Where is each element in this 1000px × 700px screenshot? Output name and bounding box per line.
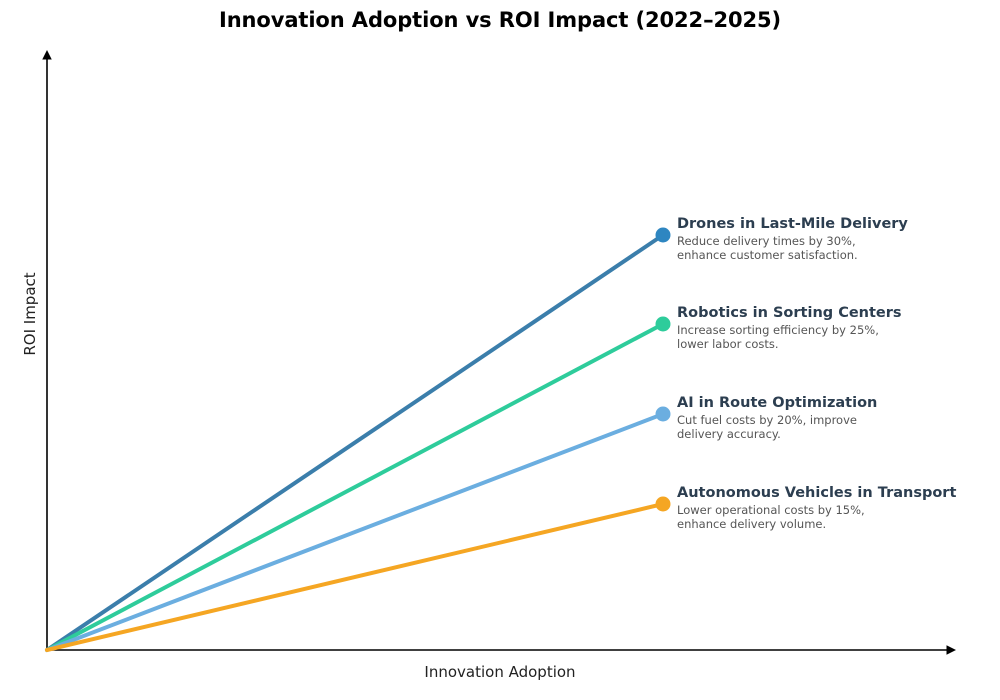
series-marker-ai-route[interactable]	[656, 407, 671, 422]
annotation-heading: Drones in Last-Mile Delivery	[677, 216, 1000, 233]
annotation-heading: AI in Route Optimization	[677, 395, 1000, 412]
annotation-description-line: Increase sorting efficiency by 25%,	[677, 324, 1000, 338]
annotation-description-line: Cut fuel costs by 20%, improve	[677, 414, 1000, 428]
annotation-robotics: Robotics in Sorting Centers Increase sor…	[677, 305, 1000, 351]
series-marker-robotics[interactable]	[656, 317, 671, 332]
annotation-heading: Robotics in Sorting Centers	[677, 305, 1000, 322]
annotation-description: Lower operational costs by 15%, enhance …	[677, 504, 1000, 531]
annotation-description: Reduce delivery times by 30%, enhance cu…	[677, 235, 1000, 262]
annotation-description: Increase sorting efficiency by 25%, lowe…	[677, 324, 1000, 351]
annotation-description-line: enhance customer satisfaction.	[677, 249, 1000, 263]
annotation-description: Cut fuel costs by 20%, improve delivery …	[677, 414, 1000, 441]
series-line-drones	[47, 235, 663, 650]
annotation-description-line: Reduce delivery times by 30%,	[677, 235, 1000, 249]
series-line-ai-route	[47, 414, 663, 650]
annotation-autonomous-vehicles: Autonomous Vehicles in Transport Lower o…	[677, 485, 1000, 531]
y-axis-label: ROI Impact	[21, 254, 39, 374]
annotation-heading: Autonomous Vehicles in Transport	[677, 485, 1000, 502]
series-marker-autonomous-vehicles[interactable]	[656, 497, 671, 512]
annotation-description-line: enhance delivery volume.	[677, 518, 1000, 532]
annotation-ai-route: AI in Route Optimization Cut fuel costs …	[677, 395, 1000, 441]
series-line-group	[47, 235, 663, 650]
annotation-description-line: Lower operational costs by 15%,	[677, 504, 1000, 518]
series-line-robotics	[47, 324, 663, 650]
chart-container: Innovation Adoption vs ROI Impact (2022–…	[0, 0, 1000, 700]
series-marker-drones[interactable]	[656, 228, 671, 243]
annotation-description-line: lower labor costs.	[677, 338, 1000, 352]
annotation-description-line: delivery accuracy.	[677, 428, 1000, 442]
annotation-drones: Drones in Last-Mile Delivery Reduce deli…	[677, 216, 1000, 262]
series-marker-group	[656, 228, 671, 512]
series-line-autonomous-vehicles	[47, 504, 663, 650]
x-axis-label: Innovation Adoption	[0, 663, 1000, 681]
